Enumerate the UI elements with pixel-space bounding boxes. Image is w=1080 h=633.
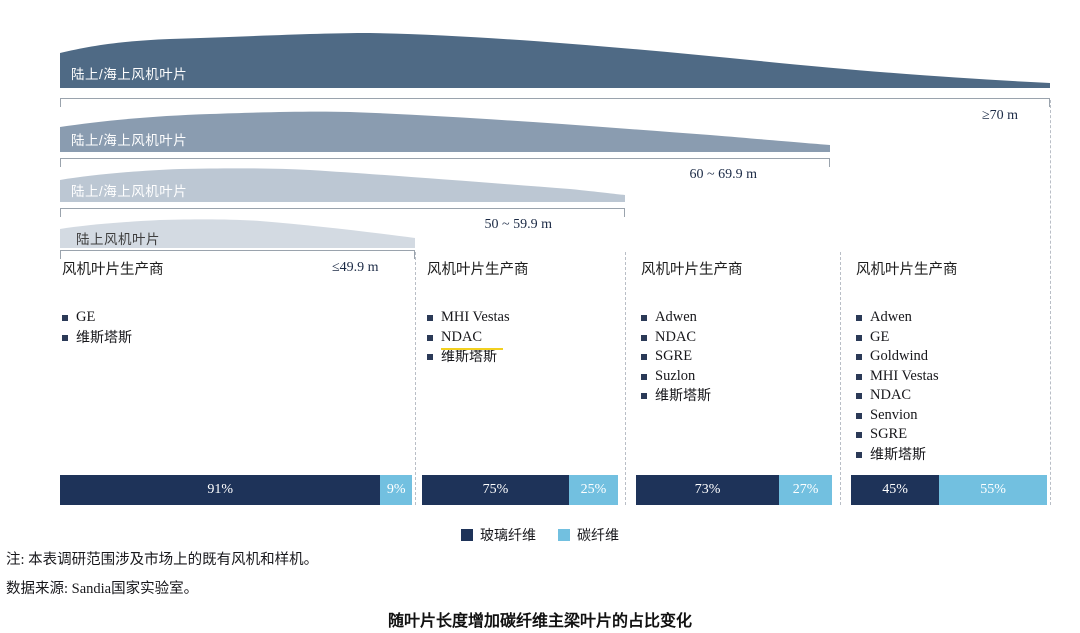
bullet-square-icon xyxy=(641,393,647,399)
carbon-fiber-value: 55% xyxy=(980,482,1006,498)
manufacturer-name: 维斯塔斯 xyxy=(76,328,132,348)
manufacturer-name: NDAC xyxy=(441,328,482,348)
blade-row-4: 陆上风机叶片 xyxy=(60,218,415,248)
column-title: 风机叶片生产商 xyxy=(427,258,617,279)
bullet-square-icon xyxy=(641,374,647,380)
list-item: Adwen xyxy=(856,308,1046,328)
list-item: SGRE xyxy=(641,347,831,367)
list-item: SGRE xyxy=(856,425,1046,445)
manufacturer-name: 维斯塔斯 xyxy=(441,347,497,367)
glass-fiber-swatch-icon xyxy=(461,529,473,541)
carbon-fiber-value: 9% xyxy=(387,482,406,498)
list-item: 维斯塔斯 xyxy=(427,347,617,367)
bullet-square-icon xyxy=(641,315,647,321)
figure-title: 随叶片长度增加碳纤维主梁叶片的占比变化 xyxy=(0,607,1080,631)
blade-row-2: 陆上/海上风机叶片 xyxy=(60,110,830,152)
glass-fiber-value: 91% xyxy=(207,482,233,498)
legend-item-carbon-fiber: 碳纤维 xyxy=(558,525,619,545)
legend-label: 碳纤维 xyxy=(577,525,619,545)
manufacturer-name: Goldwind xyxy=(870,347,928,367)
percent-bar-2: 75% 25% xyxy=(422,475,618,505)
list-item: Senvion xyxy=(856,406,1046,426)
figure-canvas: 陆上/海上风机叶片 ≥70 m 陆上/海上风机叶片 60 ~ 69.9 m 陆上… xyxy=(0,0,1080,633)
manufacturer-name: Suzlon xyxy=(655,367,695,387)
glass-fiber-segment: 91% xyxy=(60,475,380,505)
list-item: GE xyxy=(62,308,407,328)
glass-fiber-value: 45% xyxy=(882,482,908,498)
glass-fiber-value: 73% xyxy=(695,482,721,498)
blade-row-3: 陆上/海上风机叶片 xyxy=(60,167,625,202)
blade-label-4: 陆上风机叶片 xyxy=(76,228,160,248)
blade-label-1: 陆上/海上风机叶片 xyxy=(71,63,187,83)
blade-silhouette-icon xyxy=(60,31,1050,88)
manufacturer-list: GE 维斯塔斯 xyxy=(62,308,407,347)
bullet-square-icon xyxy=(427,335,433,341)
list-item: 维斯塔斯 xyxy=(62,328,407,348)
column-length-label: ≤49.9 m xyxy=(332,260,379,276)
glass-fiber-segment: 45% xyxy=(851,475,939,505)
manufacturer-column-3: 风机叶片生产商 Adwen NDAC SGRE Suzlon 维斯塔斯 xyxy=(641,258,831,406)
percent-bar-3: 73% 27% xyxy=(636,475,832,505)
bullet-square-icon xyxy=(856,413,862,419)
length-bracket-1 xyxy=(60,98,1050,108)
blade-row-1: 陆上/海上风机叶片 xyxy=(60,31,1050,88)
column-divider-1 xyxy=(415,252,416,505)
manufacturer-name: NDAC xyxy=(870,386,911,406)
manufacturer-list: MHI Vestas NDAC 维斯塔斯 xyxy=(427,308,617,367)
list-item: NDAC xyxy=(427,328,617,348)
manufacturer-name: 维斯塔斯 xyxy=(655,386,711,406)
figure-source: 数据来源: Sandia国家实验室。 xyxy=(6,577,198,598)
bullet-square-icon xyxy=(427,354,433,360)
list-item: Suzlon xyxy=(641,367,831,387)
carbon-fiber-segment: 25% xyxy=(569,475,618,505)
carbon-fiber-segment: 55% xyxy=(939,475,1047,505)
carbon-fiber-segment: 27% xyxy=(779,475,832,505)
manufacturer-name: Adwen xyxy=(870,308,912,328)
list-item: 维斯塔斯 xyxy=(856,445,1046,465)
column-title: 风机叶片生产商 xyxy=(856,258,1046,279)
legend-label: 玻璃纤维 xyxy=(480,525,536,545)
list-item: Goldwind xyxy=(856,347,1046,367)
bullet-square-icon xyxy=(62,315,68,321)
blade-label-2: 陆上/海上风机叶片 xyxy=(71,129,187,149)
percent-bar-1: 91% 9% xyxy=(60,475,412,505)
manufacturer-name: MHI Vestas xyxy=(441,308,510,328)
column-divider-3 xyxy=(840,252,841,505)
bullet-square-icon xyxy=(856,315,862,321)
manufacturer-name: Senvion xyxy=(870,406,918,426)
bullet-square-icon xyxy=(856,374,862,380)
list-item: Adwen xyxy=(641,308,831,328)
manufacturer-name: Adwen xyxy=(655,308,697,328)
length-label-2: 60 ~ 69.9 m xyxy=(690,167,757,183)
list-item: MHI Vestas xyxy=(856,367,1046,387)
glass-fiber-segment: 73% xyxy=(636,475,779,505)
bullet-square-icon xyxy=(62,335,68,341)
carbon-fiber-segment: 9% xyxy=(380,475,412,505)
manufacturer-name: GE xyxy=(870,328,889,348)
percent-bar-4: 45% 55% xyxy=(851,475,1047,505)
list-item: MHI Vestas xyxy=(427,308,617,328)
bullet-square-icon xyxy=(856,393,862,399)
bullet-square-icon xyxy=(641,354,647,360)
manufacturer-name: SGRE xyxy=(655,347,692,367)
manufacturer-name: MHI Vestas xyxy=(870,367,939,387)
length-label-3: 50 ~ 59.9 m xyxy=(485,217,552,233)
bullet-square-icon xyxy=(641,335,647,341)
length-label-1: ≥70 m xyxy=(982,108,1018,124)
carbon-fiber-swatch-icon xyxy=(558,529,570,541)
blade-label-3: 陆上/海上风机叶片 xyxy=(71,180,187,200)
carbon-fiber-value: 27% xyxy=(793,482,819,498)
carbon-fiber-value: 25% xyxy=(581,482,607,498)
list-item: NDAC xyxy=(856,386,1046,406)
manufacturer-list: Adwen NDAC SGRE Suzlon 维斯塔斯 xyxy=(641,308,831,406)
bullet-square-icon xyxy=(856,335,862,341)
glass-fiber-segment: 75% xyxy=(422,475,569,505)
list-item: GE xyxy=(856,328,1046,348)
list-item: NDAC xyxy=(641,328,831,348)
manufacturer-name: GE xyxy=(76,308,95,328)
manufacturer-name: SGRE xyxy=(870,425,907,445)
figure-note: 注: 本表调研范围涉及市场上的既有风机和样机。 xyxy=(6,548,318,569)
column-divider-4 xyxy=(1050,100,1051,505)
manufacturer-name: 维斯塔斯 xyxy=(870,445,926,465)
column-title: 风机叶片生产商 xyxy=(641,258,831,279)
legend-item-glass-fiber: 玻璃纤维 xyxy=(461,525,536,545)
column-divider-2 xyxy=(625,252,626,505)
bullet-square-icon xyxy=(856,452,862,458)
bullet-square-icon xyxy=(856,432,862,438)
bullet-square-icon xyxy=(427,315,433,321)
manufacturer-column-2: 风机叶片生产商 MHI Vestas NDAC 维斯塔斯 xyxy=(427,258,617,367)
manufacturer-list: Adwen GE Goldwind MHI Vestas NDAC Senvio… xyxy=(856,308,1046,464)
manufacturer-name: NDAC xyxy=(655,328,696,348)
manufacturer-column-1: 风机叶片生产商 ≤49.9 m GE 维斯塔斯 xyxy=(62,258,407,347)
glass-fiber-value: 75% xyxy=(483,482,509,498)
list-item: 维斯塔斯 xyxy=(641,386,831,406)
chart-legend: 玻璃纤维 碳纤维 xyxy=(0,525,1080,545)
highlight-underline xyxy=(441,348,503,350)
manufacturer-column-4: 风机叶片生产商 Adwen GE Goldwind MHI Vestas NDA… xyxy=(856,258,1046,464)
bullet-square-icon xyxy=(856,354,862,360)
